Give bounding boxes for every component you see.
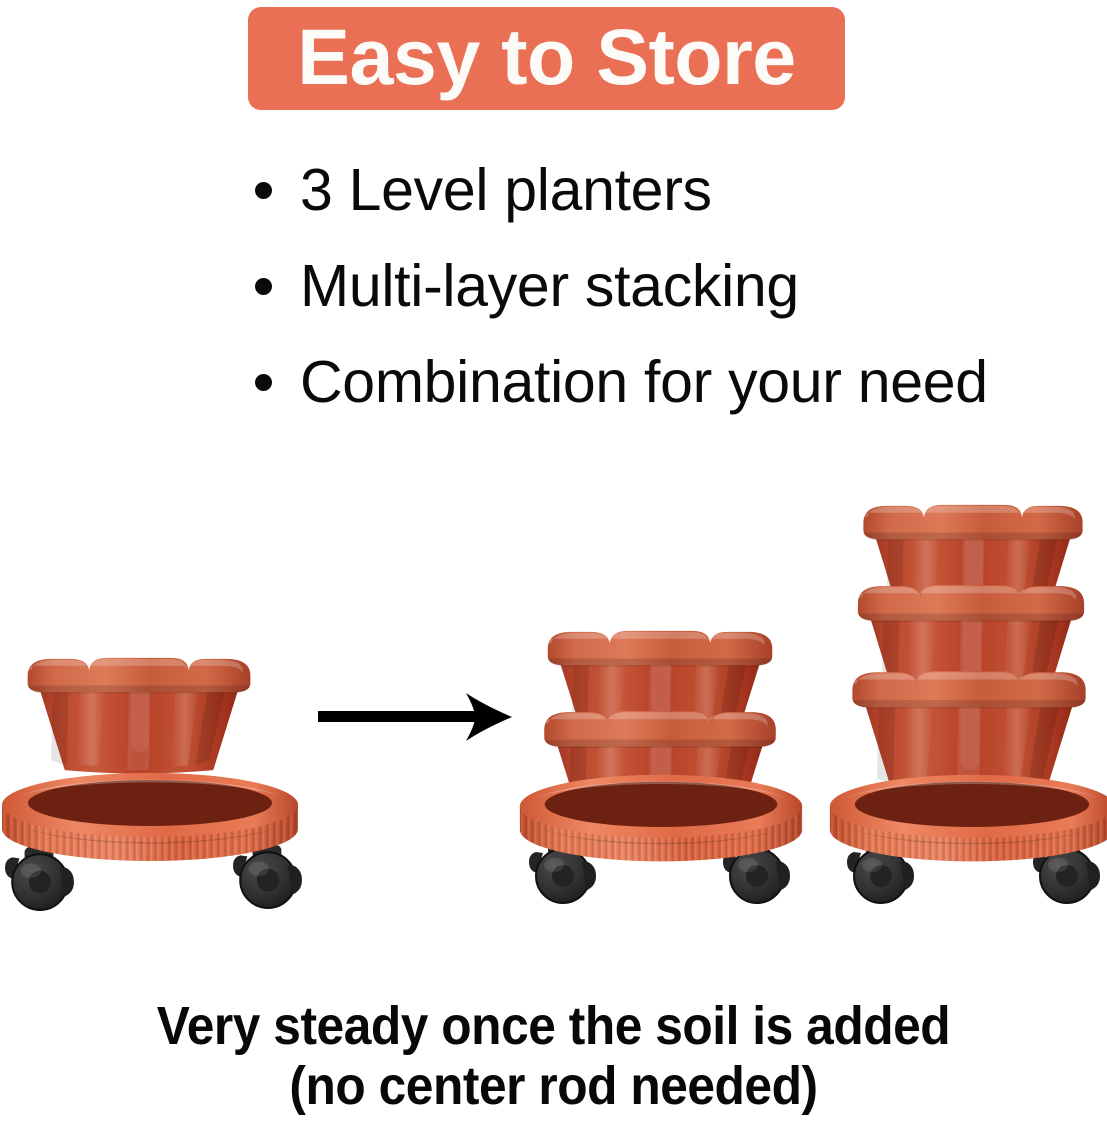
two-tier-planter (520, 631, 802, 903)
feature-label: Multi-layer stacking (300, 255, 799, 317)
product-illustration (0, 455, 1107, 955)
feature-list: 3 Level planters Multi-layer stacking Co… (255, 142, 1075, 430)
caption-line-2: (no center rod needed) (44, 1056, 1062, 1116)
single-tier-planter (2, 658, 302, 910)
right-arrow-icon (318, 693, 512, 741)
feature-label: 3 Level planters (300, 159, 712, 221)
header-banner: Easy to Store (248, 7, 845, 110)
list-item: Multi-layer stacking (255, 238, 1075, 334)
bullet-dot-icon (255, 374, 272, 391)
bottom-caption: Very steady once the soil is added (no c… (0, 996, 1107, 1116)
bullet-dot-icon (255, 278, 272, 295)
caption-line-1: Very steady once the soil is added (44, 996, 1062, 1056)
bullet-dot-icon (255, 182, 272, 199)
list-item: Combination for your need (255, 334, 1075, 430)
list-item: 3 Level planters (255, 142, 1075, 238)
three-tier-planter (830, 505, 1107, 903)
page-title: Easy to Store (297, 17, 795, 96)
feature-label: Combination for your need (300, 351, 988, 413)
